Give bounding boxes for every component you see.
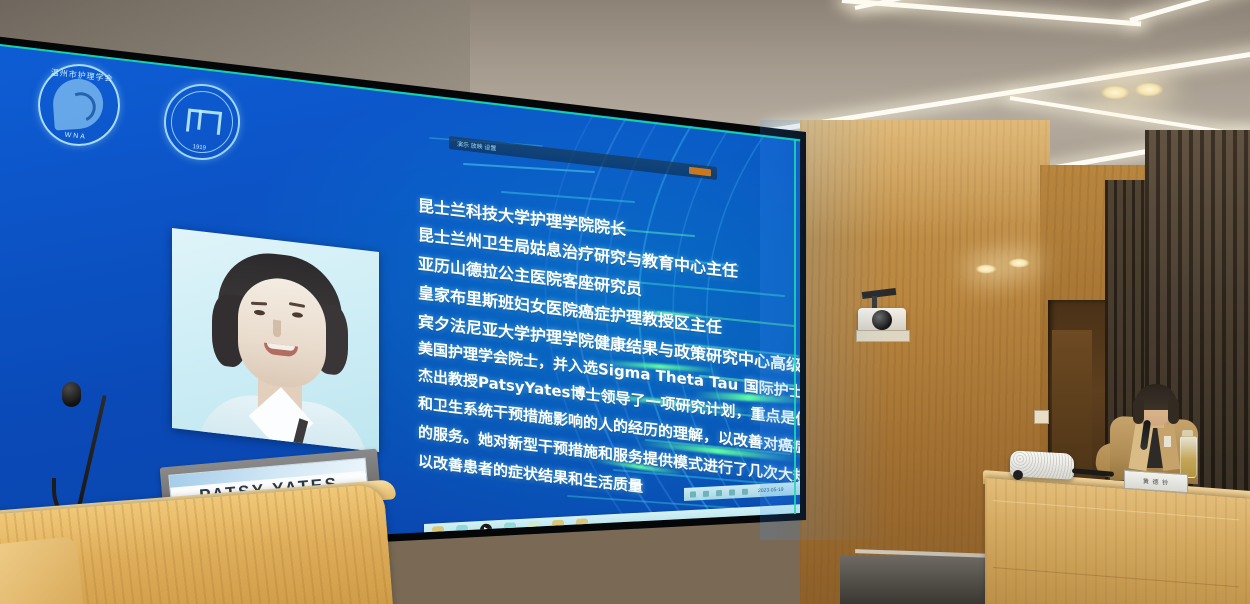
gooseneck-microphone-head-icon bbox=[62, 382, 81, 407]
toolbar-accent-button[interactable] bbox=[689, 167, 711, 177]
ceiling-downlight bbox=[1100, 85, 1130, 100]
speaker-bio-text: 昆士兰科技大学护理学院院长 昆士兰州卫生局姑息治疗研究与教育中心主任 亚历山德拉… bbox=[418, 192, 814, 525]
camera-icon[interactable] bbox=[552, 519, 564, 532]
folder-icon[interactable] bbox=[432, 525, 444, 538]
camera-lens-icon bbox=[872, 310, 892, 330]
ceiling-downlight bbox=[1134, 82, 1164, 97]
battery-icon[interactable] bbox=[729, 489, 735, 495]
network-icon[interactable] bbox=[690, 491, 696, 497]
patsy-yates-portrait bbox=[172, 228, 379, 452]
media-play-icon[interactable] bbox=[480, 523, 492, 536]
settings-icon[interactable] bbox=[716, 490, 722, 496]
podium-front-edge bbox=[0, 536, 83, 604]
wall-light-wash bbox=[800, 120, 1050, 240]
wenzhou-nursing-association-logo: 温州市护理学会 WNA bbox=[34, 60, 124, 150]
screen-bezel-highlight bbox=[794, 140, 796, 514]
projector-lens-icon bbox=[1013, 470, 1023, 480]
cart-icon[interactable] bbox=[576, 518, 588, 531]
wall-wash-light bbox=[975, 264, 997, 274]
presentation-toolbar-label: 演示 放映 设置 bbox=[457, 139, 496, 153]
volume-icon[interactable] bbox=[703, 490, 709, 496]
head-table-nameplate-text: 黄 德 铃 bbox=[1143, 476, 1169, 487]
taskbar-clock: 2023-05-19 bbox=[758, 486, 784, 493]
input-method-icon[interactable] bbox=[742, 488, 748, 494]
speaker-hair bbox=[1168, 398, 1179, 424]
speaker-badge bbox=[1164, 436, 1171, 447]
light-switch[interactable] bbox=[1034, 410, 1049, 424]
conference-hall-scene: 温州市护理学会 WNA 1919 演示 放映 设置 bbox=[0, 0, 1250, 604]
chat-icon[interactable] bbox=[528, 520, 540, 533]
water-bottle-icon bbox=[1180, 436, 1197, 478]
wall-wash-light bbox=[1008, 258, 1030, 268]
butterfly-icon[interactable] bbox=[456, 524, 468, 537]
camera-mount-plate bbox=[856, 330, 910, 342]
refresh-icon[interactable] bbox=[504, 522, 516, 535]
speaker-hair bbox=[1133, 398, 1144, 424]
